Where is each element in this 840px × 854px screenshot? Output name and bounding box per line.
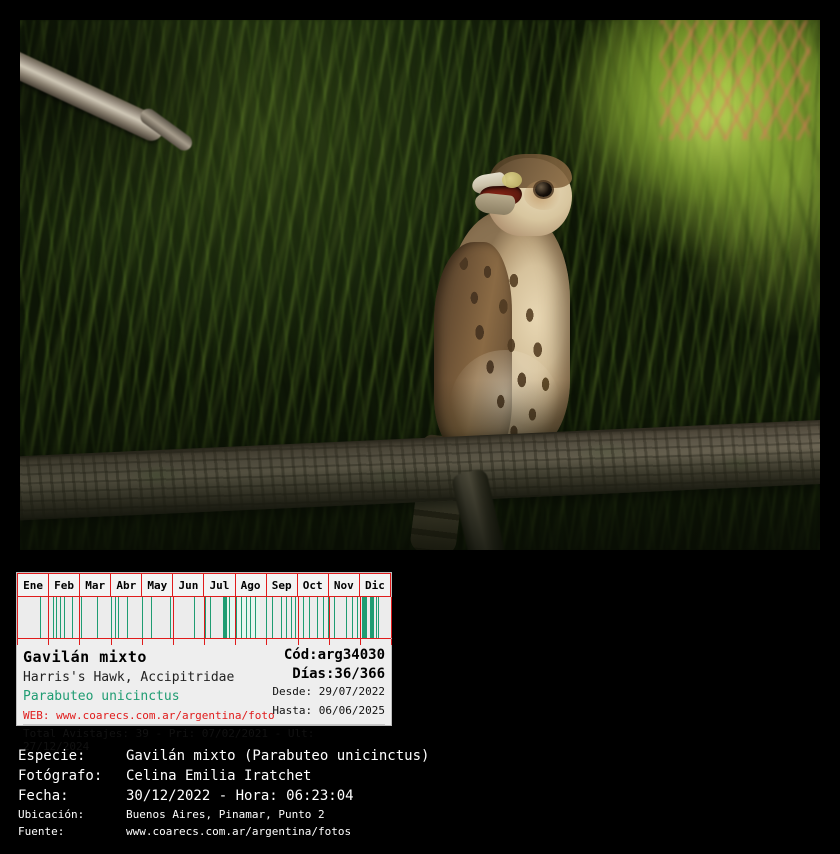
- calendar-month-mar: Mar: [80, 574, 111, 596]
- date-to-label: Hasta:: [272, 704, 312, 717]
- caption-row: Fuente:www.coarecs.com.ar/argentina/foto…: [18, 825, 828, 842]
- days-label: Días:: [292, 666, 334, 682]
- shadow-bottom: [20, 380, 820, 550]
- calendar-sighting-tick: [309, 597, 310, 638]
- calendar-month-feb: Feb: [49, 574, 80, 596]
- photo-record-page: EneFebMarAbrMayJunJulAgoSepOctNovDic Gav…: [0, 0, 840, 854]
- calendar-sighting-tick: [142, 597, 143, 638]
- calendar-month-nov: Nov: [329, 574, 360, 596]
- calendar-sighting-tick-strong: [223, 597, 226, 638]
- calendar-sighting-tick: [352, 597, 353, 638]
- days-counter: Días:36/366: [292, 666, 385, 682]
- calendar-sighting-tick: [281, 597, 282, 638]
- calendar-month-separator: [329, 597, 330, 638]
- species-info: Gavilán mixto Cód:arg34030 Harris's Hawk…: [17, 645, 391, 753]
- calendar-sighting-tick: [72, 597, 73, 638]
- calendar-foot-tick: [391, 639, 392, 645]
- calendar-sighting-tick: [60, 597, 61, 638]
- calendar-sighting-tick: [229, 597, 230, 638]
- caption-row: Fotógrafo:Celina Emilia Iratchet: [18, 768, 828, 788]
- species-common-name-en: Harris's Hawk, Accipitridae: [23, 670, 234, 685]
- calendar-month-separator: [173, 597, 174, 638]
- calendar-month-separator: [360, 597, 361, 638]
- calendar-sighting-tick: [194, 597, 195, 638]
- calendar-month-oct: Oct: [298, 574, 329, 596]
- calendar-month-jul: Jul: [204, 574, 235, 596]
- caption-block: Especie:Gavilán mixto (Parabuteo unicinc…: [18, 748, 828, 842]
- calendar-sighting-tick: [151, 597, 152, 638]
- days-value: 36/366: [334, 666, 385, 682]
- caption-small-rows: Ubicación:Buenos Aires, Pinamar, Punto 2…: [18, 808, 828, 842]
- caption-row: Fecha:30/12/2022 - Hora: 06:23:04: [18, 788, 828, 808]
- row-name: Gavilán mixto Cód:arg34030: [23, 647, 385, 666]
- calendar-sighting-tick: [115, 597, 116, 638]
- caption-row: Ubicación:Buenos Aires, Pinamar, Punto 2: [18, 808, 828, 825]
- calendar-sighting-tick: [170, 597, 171, 638]
- calendar-month-separator: [298, 597, 299, 638]
- calendar-month-ene: Ene: [17, 574, 49, 596]
- caption-key: Fecha:: [18, 788, 126, 804]
- calendar-sighting-tick: [205, 597, 206, 638]
- calendar-sighting-tick: [250, 597, 251, 638]
- species-record-panel: EneFebMarAbrMayJunJulAgoSepOctNovDic Gav…: [16, 572, 392, 726]
- hawk-cere: [502, 172, 522, 188]
- date-to: Hasta: 06/06/2025: [272, 704, 385, 717]
- species-code-label: Cód:: [284, 647, 318, 663]
- hawk-lower-beak: [474, 192, 516, 216]
- calendar-sighting-tick: [226, 597, 227, 638]
- calendar-month-may: May: [142, 574, 173, 596]
- calendar-sighting-tick: [53, 597, 54, 638]
- calendar-sighting-tick: [255, 597, 256, 638]
- calendar-month-jun: Jun: [173, 574, 204, 596]
- calendar-sighting-tick: [378, 597, 379, 638]
- caption-key: Fuente:: [18, 825, 126, 838]
- calendar-month-separator: [17, 597, 18, 638]
- calendar-sighting-tick: [56, 597, 57, 638]
- calendar-sighting-tick: [210, 597, 211, 638]
- calendar-month-header: EneFebMarAbrMayJunJulAgoSepOctNovDic: [17, 573, 391, 597]
- calendar-sighting-tick: [118, 597, 119, 638]
- calendar-sighting-tick-strong: [363, 597, 366, 638]
- calendar-sighting-tick: [303, 597, 304, 638]
- caption-value: Gavilán mixto (Parabuteo unicinctus): [126, 748, 429, 764]
- calendar-sighting-tick: [111, 597, 112, 638]
- calendar-sighting-tick: [246, 597, 247, 638]
- web-link[interactable]: WEB: www.coarecs.com.ar/argentina/foto: [23, 709, 275, 722]
- date-from-label: Desde:: [272, 685, 312, 698]
- caption-value: 30/12/2022 - Hora: 06:23:04: [126, 788, 354, 804]
- calendar-sighting-tick-strong: [370, 597, 373, 638]
- calendar-month-separator: [48, 597, 49, 638]
- date-to-value: 06/06/2025: [319, 704, 385, 717]
- caption-main-rows: Especie:Gavilán mixto (Parabuteo unicinc…: [18, 748, 828, 808]
- sightings-calendar: EneFebMarAbrMayJunJulAgoSepOctNovDic: [17, 573, 391, 645]
- caption-value: Celina Emilia Iratchet: [126, 768, 311, 784]
- caption-row: Especie:Gavilán mixto (Parabuteo unicinc…: [18, 748, 828, 768]
- calendar-sighting-tick: [357, 597, 358, 638]
- caption-key: Fotógrafo:: [18, 768, 126, 784]
- calendar-sighting-tick: [376, 597, 377, 638]
- calendar-sighting-tick: [334, 597, 335, 638]
- hawk-eye: [535, 182, 552, 197]
- calendar-month-abr: Abr: [111, 574, 142, 596]
- caption-value: Buenos Aires, Pinamar, Punto 2: [126, 808, 325, 821]
- species-common-name-es: Gavilán mixto: [23, 648, 147, 666]
- species-code: Cód:arg34030: [284, 647, 385, 663]
- species-code-value: arg34030: [318, 647, 385, 663]
- reddish-branch-cluster: [660, 20, 810, 140]
- calendar-sighting-tick: [236, 597, 237, 638]
- calendar-tick-area: [17, 597, 391, 639]
- calendar-sighting-tick: [317, 597, 318, 638]
- calendar-month-ago: Ago: [236, 574, 267, 596]
- row-scientific: Parabuteo unicinctus Desde: 29/07/2022: [23, 685, 385, 704]
- calendar-sighting-tick: [346, 597, 347, 638]
- calendar-sighting-tick: [81, 597, 82, 638]
- calendar-sighting-tick: [272, 597, 273, 638]
- calendar-sighting-tick: [286, 597, 287, 638]
- calendar-sighting-tick: [97, 597, 98, 638]
- row-web: WEB: www.coarecs.com.ar/argentina/foto H…: [23, 704, 385, 723]
- calendar-sighting-tick: [40, 597, 41, 638]
- calendar-month-separator: [391, 597, 392, 638]
- date-from: Desde: 29/07/2022: [272, 685, 385, 698]
- calendar-sighting-tick: [323, 597, 324, 638]
- caption-key: Ubicación:: [18, 808, 126, 821]
- calendar-sighting-tick: [266, 597, 267, 638]
- calendar-sighting-tick: [328, 597, 329, 638]
- species-scientific-name: Parabuteo unicinctus: [23, 689, 180, 704]
- calendar-sighting-tick: [64, 597, 65, 638]
- bird-photo: [20, 20, 820, 550]
- calendar-sighting-tick: [241, 597, 242, 638]
- date-from-value: 29/07/2022: [319, 685, 385, 698]
- calendar-month-sep: Sep: [267, 574, 298, 596]
- caption-value: www.coarecs.com.ar/argentina/fotos: [126, 825, 351, 838]
- calendar-sighting-tick: [291, 597, 292, 638]
- calendar-month-dic: Dic: [360, 574, 391, 596]
- calendar-sighting-tick: [366, 597, 367, 638]
- calendar-sighting-tick: [127, 597, 128, 638]
- caption-key: Especie:: [18, 748, 126, 764]
- calendar-sighting-tick: [295, 597, 296, 638]
- row-common: Harris's Hawk, Accipitridae Días:36/366: [23, 666, 385, 685]
